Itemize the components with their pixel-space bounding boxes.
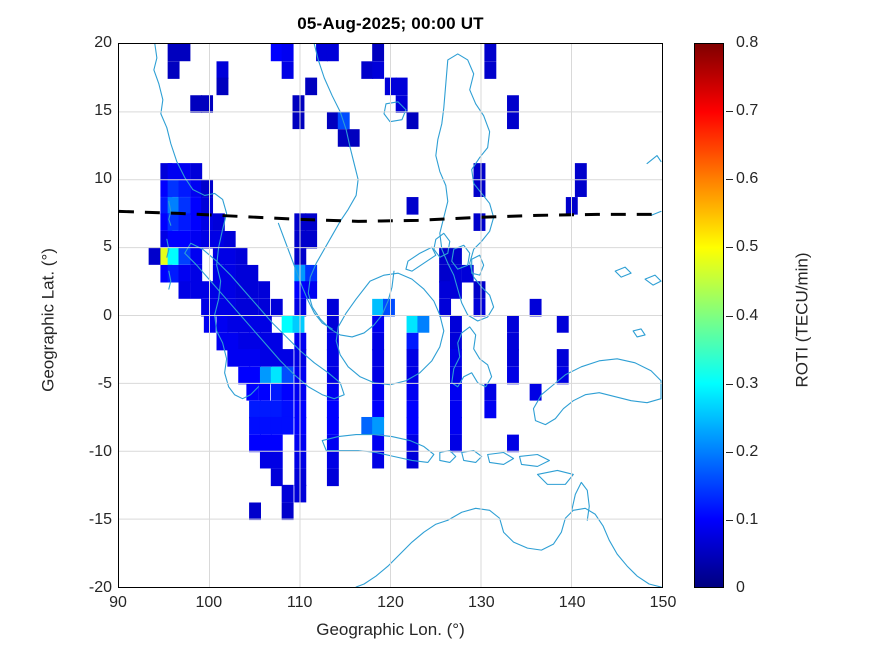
roti-map-figure: 05-Aug-2025; 00:00 UT: [0, 0, 875, 656]
y-tick-label: 20: [68, 34, 112, 52]
roti-cell: [149, 247, 161, 265]
roti-cell: [450, 333, 462, 351]
roti-cell: [282, 44, 294, 61]
roti-cell: [224, 281, 236, 299]
roti-cell: [168, 44, 180, 61]
roti-cell: [450, 315, 462, 333]
x-tick-label: 100: [179, 594, 239, 612]
roti-cell: [507, 367, 519, 385]
y-tick-label: 10: [68, 170, 112, 188]
y-tick-label: -10: [68, 443, 112, 461]
colorbar-tick-label: 0.6: [736, 170, 758, 188]
roti-cell: [217, 61, 229, 79]
roti-cell: [258, 383, 270, 401]
roti-cell: [361, 61, 373, 79]
roti-cell: [168, 231, 180, 249]
roti-cell: [271, 383, 283, 401]
x-tick-labels: 90100110120130140150: [118, 594, 663, 618]
roti-cell: [227, 349, 239, 367]
roti-cell: [190, 95, 202, 113]
roti-cell: [201, 95, 213, 113]
y-tick-label: -5: [68, 375, 112, 393]
roti-cell: [249, 435, 261, 453]
x-tick-label: 130: [451, 594, 511, 612]
roti-cell: [372, 401, 384, 419]
roti-cell: [396, 78, 408, 96]
roti-cell: [246, 265, 258, 283]
roti-cell: [282, 367, 294, 385]
roti-cell: [168, 247, 180, 265]
roti-cell: [327, 417, 339, 435]
roti-cell: [249, 367, 261, 385]
colorbar-tick-label: 0.7: [736, 102, 758, 120]
roti-cell: [293, 315, 305, 333]
roti-cell: [575, 179, 587, 197]
colorbar-tick-label: 0.1: [736, 511, 758, 529]
roti-cell: [407, 367, 419, 385]
roti-cell: [260, 451, 272, 469]
roti-cell: [557, 349, 569, 367]
roti-cell: [260, 417, 272, 435]
roti-cell: [282, 61, 294, 79]
roti-cell: [260, 367, 272, 385]
roti-cell: [327, 401, 339, 419]
roti-cell: [507, 349, 519, 367]
roti-cell: [282, 485, 294, 503]
roti-cell: [474, 179, 486, 197]
roti-cell: [507, 333, 519, 351]
x-tick-label: 120: [361, 594, 421, 612]
roti-cell: [327, 451, 339, 469]
roti-cell: [282, 417, 294, 435]
colorbar-tick-mark: [726, 384, 733, 385]
roti-cell: [224, 247, 236, 265]
roti-cell: [201, 197, 213, 215]
map-axes: [118, 43, 663, 588]
roti-cell: [271, 367, 283, 385]
y-axis-label: Geographic Lat. (°): [39, 48, 59, 593]
roti-cell: [168, 179, 180, 197]
roti-cell: [507, 315, 519, 333]
roti-cell: [305, 265, 317, 283]
roti-cell: [217, 78, 229, 96]
roti-cell: [372, 61, 384, 79]
roti-cell: [327, 349, 339, 367]
roti-cell: [190, 197, 202, 215]
roti-cell: [246, 281, 258, 299]
roti-cell: [407, 315, 419, 333]
roti-cell: [484, 44, 496, 61]
colorbar-tick-label: 0.3: [736, 375, 758, 393]
roti-cell: [190, 265, 202, 283]
roti-cell: [224, 231, 236, 249]
roti-cell: [293, 112, 305, 130]
roti-cell: [575, 163, 587, 181]
colorbar-tick-labels: 0.80.70.60.50.40.30.20.10: [726, 43, 778, 588]
roti-cell: [168, 163, 180, 181]
roti-cell: [327, 299, 339, 317]
roti-cell: [282, 401, 294, 419]
colorbar: [694, 43, 724, 588]
roti-cell: [305, 78, 317, 96]
roti-cell: [305, 281, 317, 299]
colorbar-label: ROTI (TECU/min): [793, 48, 813, 593]
roti-cell: [249, 401, 261, 419]
x-axis-label: Geographic Lon. (°): [118, 620, 663, 640]
colorbar-tick-label: 0: [736, 579, 745, 597]
roti-cell: [236, 265, 248, 283]
roti-cell: [507, 112, 519, 130]
roti-cell: [450, 417, 462, 435]
roti-cell: [190, 213, 202, 231]
roti-cell: [407, 383, 419, 401]
roti-cell: [450, 247, 462, 265]
colorbar-tick-label: 0.2: [736, 443, 758, 461]
roti-cell: [417, 315, 429, 333]
roti-cell: [238, 349, 250, 367]
roti-cell: [249, 333, 261, 351]
roti-cell: [236, 247, 248, 265]
y-tick-labels: 20151050-5-10-15-20: [64, 43, 112, 588]
roti-cell: [439, 265, 451, 283]
y-tick-label: -15: [68, 511, 112, 529]
roti-cell: [271, 469, 283, 487]
roti-cell: [201, 281, 213, 299]
roti-cell: [249, 349, 261, 367]
roti-cell: [439, 281, 451, 299]
roti-cell: [179, 163, 191, 181]
y-tick-label: 15: [68, 102, 112, 120]
roti-cell: [282, 502, 294, 520]
roti-cell: [260, 333, 272, 351]
roti-cell: [260, 315, 272, 333]
roti-cell: [217, 315, 229, 333]
roti-cell: [227, 315, 239, 333]
roti-cell: [271, 299, 283, 317]
roti-cell: [484, 401, 496, 419]
figure-title: 05-Aug-2025; 00:00 UT: [118, 14, 663, 34]
colorbar-tick-mark: [726, 179, 733, 180]
roti-cell: [249, 502, 261, 520]
roti-cell: [407, 197, 419, 215]
roti-cell: [484, 61, 496, 79]
roti-cell: [327, 469, 339, 487]
roti-cell: [179, 247, 191, 265]
roti-cell: [474, 299, 486, 317]
roti-cell: [238, 367, 250, 385]
roti-cell: [249, 315, 261, 333]
roti-cell: [327, 112, 339, 130]
roti-cell: [361, 417, 373, 435]
roti-cell: [305, 213, 317, 231]
colorbar-tick-label: 0.5: [736, 238, 758, 256]
roti-cell: [282, 383, 294, 401]
roti-cell: [293, 95, 305, 113]
roti-cell: [372, 367, 384, 385]
roti-cell: [407, 333, 419, 351]
roti-cell: [179, 179, 191, 197]
roti-cell: [338, 112, 350, 130]
colorbar-tick-mark: [726, 247, 733, 248]
colorbar-tick-mark: [726, 452, 733, 453]
roti-cell: [249, 417, 261, 435]
roti-cell: [271, 417, 283, 435]
roti-cell: [372, 349, 384, 367]
x-tick-label: 90: [88, 594, 148, 612]
roti-cell: [271, 401, 283, 419]
colorbar-tick-mark: [726, 111, 733, 112]
colorbar-tick-label: 0.4: [736, 307, 758, 325]
roti-cell: [190, 247, 202, 265]
roti-cell: [179, 213, 191, 231]
roti-cell: [327, 367, 339, 385]
roti-cell: [407, 417, 419, 435]
x-tick-label: 140: [542, 594, 602, 612]
roti-cell: [201, 299, 213, 317]
roti-cell: [507, 95, 519, 113]
roti-cell: [236, 299, 248, 317]
roti-cell: [439, 299, 451, 317]
roti-cell: [372, 333, 384, 351]
roti-cell: [507, 435, 519, 453]
roti-cell: [258, 281, 270, 299]
roti-cell: [190, 281, 202, 299]
map-canvas: [119, 44, 662, 587]
roti-cell: [236, 281, 248, 299]
roti-cell: [179, 44, 191, 61]
x-tick-label: 150: [633, 594, 693, 612]
roti-cell: [557, 315, 569, 333]
x-tick-label: 110: [270, 594, 330, 612]
roti-cell: [201, 231, 213, 249]
roti-cell: [179, 265, 191, 283]
roti-cell: [407, 401, 419, 419]
colorbar-tick-mark: [726, 520, 733, 521]
roti-cell: [260, 401, 272, 419]
roti-cell: [190, 163, 202, 181]
y-tick-label: 5: [68, 238, 112, 256]
roti-cell: [271, 435, 283, 453]
roti-cell: [271, 451, 283, 469]
roti-cell: [407, 112, 419, 130]
roti-cell: [271, 333, 283, 351]
y-tick-label: 0: [68, 307, 112, 325]
roti-cell: [327, 44, 339, 61]
roti-cell: [260, 349, 272, 367]
roti-cell: [372, 435, 384, 453]
roti-cell: [282, 315, 294, 333]
roti-cell: [168, 61, 180, 79]
roti-cell: [238, 333, 250, 351]
roti-cell: [450, 401, 462, 419]
colorbar-tick-mark: [726, 316, 733, 317]
roti-cell: [372, 383, 384, 401]
roti-cell: [557, 367, 569, 385]
roti-cell: [372, 44, 384, 61]
roti-cell: [372, 315, 384, 333]
roti-cell: [305, 231, 317, 249]
roti-cell: [271, 44, 283, 61]
roti-cell: [246, 383, 258, 401]
roti-cell: [179, 281, 191, 299]
roti-cell: [246, 299, 258, 317]
roti-cell: [530, 299, 542, 317]
roti-cell: [260, 435, 272, 453]
roti-cell: [227, 333, 239, 351]
roti-cell: [407, 349, 419, 367]
roti-cell: [450, 435, 462, 453]
roti-cell: [474, 163, 486, 181]
colorbar-tick-label: 0.8: [736, 34, 758, 52]
roti-cell: [372, 417, 384, 435]
